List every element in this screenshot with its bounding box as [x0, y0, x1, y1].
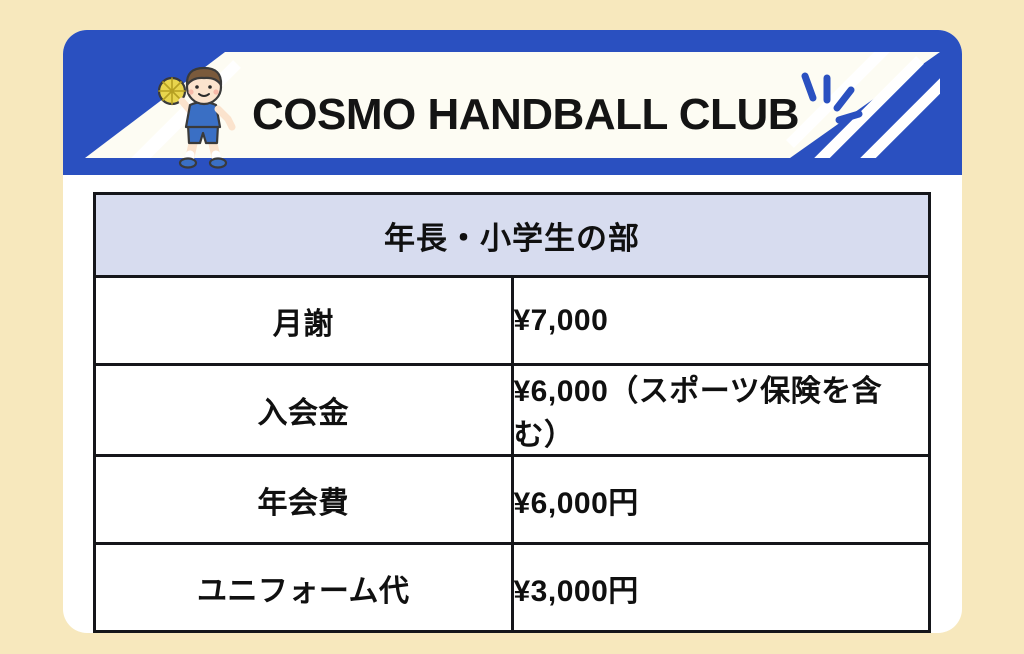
- page-title: COSMO HANDBALL CLUB: [252, 86, 852, 144]
- fee-value-admission: ¥6,000（スポーツ保険を含む）: [512, 365, 930, 456]
- table-row: ユニフォーム代 ¥3,000円: [95, 544, 930, 632]
- fee-value-monthly: ¥7,000: [512, 277, 930, 365]
- table-header-title: 年長・小学生の部: [95, 194, 930, 277]
- fee-label-uniform: ユニフォーム代: [95, 544, 513, 632]
- fee-label-monthly: 月謝: [95, 277, 513, 365]
- fee-label-admission: 入会金: [95, 365, 513, 456]
- fee-label-annual: 年会費: [95, 456, 513, 544]
- table-row: 年会費 ¥6,000円: [95, 456, 930, 544]
- header-banner: COSMO HANDBALL CLUB: [63, 30, 962, 175]
- sparkle-icon: [795, 68, 867, 136]
- table-header-row: 年長・小学生の部: [95, 194, 930, 277]
- poster-root: COSMO HANDBALL CLUB 年長・小学生の部: [0, 0, 1024, 654]
- table-row: 月謝 ¥7,000: [95, 277, 930, 365]
- fee-value-annual: ¥6,000円: [512, 456, 930, 544]
- fee-table: 年長・小学生の部 月謝 ¥7,000 入会金 ¥6,000（スポーツ保険を含む）…: [93, 192, 931, 633]
- table-row: 入会金 ¥6,000（スポーツ保険を含む）: [95, 365, 930, 456]
- fee-value-uniform: ¥3,000円: [512, 544, 930, 632]
